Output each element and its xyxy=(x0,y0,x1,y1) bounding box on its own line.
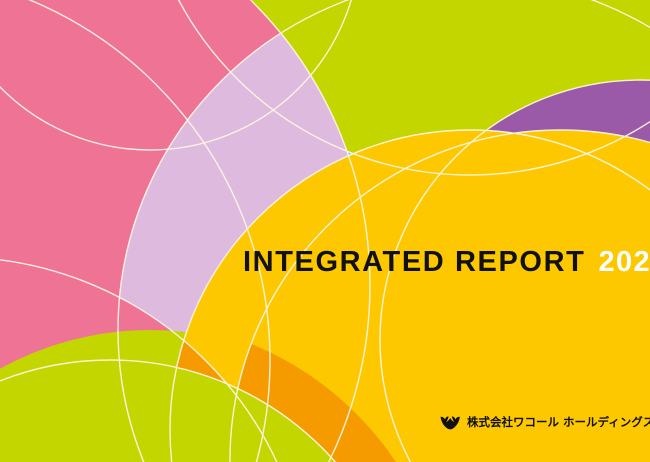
company-logo: 株式会社ワコール ホールディングス xyxy=(440,416,650,430)
report-cover: INTEGRATED REPORT 2025 株式会社ワコール ホールディングス xyxy=(0,0,650,462)
wacoal-w-mark-icon xyxy=(440,416,462,430)
company-logo-text: 株式会社ワコール ホールディングス xyxy=(467,417,650,429)
cover-artwork xyxy=(0,0,650,462)
artwork-shapes xyxy=(0,0,650,462)
